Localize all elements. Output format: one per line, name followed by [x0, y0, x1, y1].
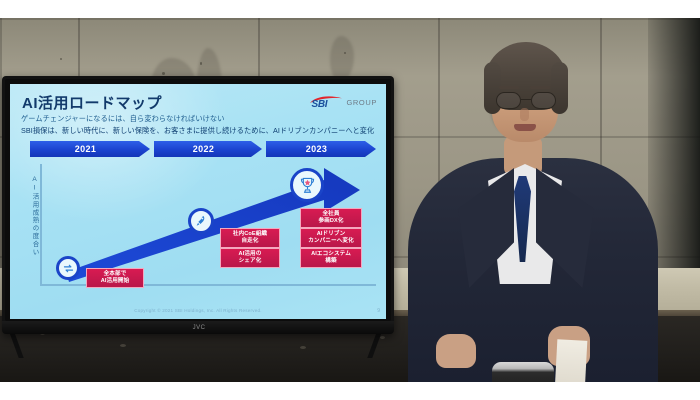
tag-line: 参画DX化	[304, 218, 358, 225]
eyeglasses	[496, 92, 556, 109]
slide-page-number: 9	[377, 308, 380, 314]
slide-title: AI活用ロードマップ	[22, 92, 162, 113]
television: JVC AI活用ロードマップ ゲームチェンジャーになるには、自ら変わらなければい…	[2, 76, 394, 334]
tag-line: AI活用の	[224, 251, 276, 258]
tag-line: AIエコシステム	[304, 251, 358, 258]
milestone-node-2022	[188, 208, 214, 234]
sbi-mark: SBI	[309, 95, 343, 110]
cycle-icon	[62, 262, 75, 275]
conference-speaker	[492, 362, 554, 382]
milestone-node-2021	[56, 256, 80, 280]
milestone-node-2023	[290, 168, 324, 202]
eyebrow-left	[499, 86, 519, 89]
sbi-wordmark: SBI	[311, 99, 327, 110]
presenter	[400, 18, 700, 382]
trophy-icon	[298, 176, 317, 195]
tv-chin: JVC	[2, 321, 394, 334]
sbi-group-suffix: GROUP	[346, 98, 377, 107]
mouth	[514, 124, 536, 131]
tag-line: AI活用開始	[90, 278, 140, 285]
timeline-chevrons: 2021 2022 2023	[30, 141, 376, 157]
tag-line: AIドリブン	[304, 231, 358, 238]
sbi-group-logo: SBI GROUP	[309, 95, 377, 110]
milestone-tag: AI活用の シェア化	[220, 248, 280, 268]
tag-line: カンパニーへ変化	[304, 238, 358, 245]
milestone-tag: 全社員 参画DX化	[300, 208, 362, 228]
paper-stack	[555, 339, 588, 382]
video-frame: JVC AI活用ロードマップ ゲームチェンジャーになるには、自ら変わらなければい…	[0, 18, 700, 382]
slide-footer: Copyright © 2021 SBI Holdings, Inc. All …	[10, 308, 386, 313]
tag-line: 自走化	[224, 238, 276, 245]
presentation-slide: AI活用ロードマップ ゲームチェンジャーになるには、自ら変わらなければいけない …	[10, 84, 386, 319]
screenshot-stage: JVC AI活用ロードマップ ゲームチェンジャーになるには、自ら変わらなければい…	[0, 0, 700, 400]
eyebrow-right	[530, 86, 550, 89]
tag-line: 全社員	[304, 211, 358, 218]
timeline-chevron-2022: 2022	[154, 141, 262, 157]
rocket-icon	[194, 214, 208, 228]
timeline-chevron-2023: 2023	[266, 141, 376, 157]
timeline-chevron-2021: 2021	[30, 141, 150, 157]
nose	[520, 108, 529, 121]
slide-subtitle-2: SBI損保は、新しい時代に、新しい保険を、お客さまに提供し続けるために、AIドリ…	[21, 126, 374, 136]
milestone-tag: AIドリブン カンパニーへ変化	[300, 228, 362, 248]
milestone-tag: 社内CoE組織 自走化	[220, 228, 280, 248]
tv-brand-logo: JVC	[178, 324, 220, 332]
tag-line: 社内CoE組織	[224, 231, 276, 238]
tag-line: 構築	[304, 258, 358, 265]
tag-line: シェア化	[224, 258, 276, 265]
slide-subtitle-1: ゲームチェンジャーになるには、自ら変わらなければいけない	[21, 114, 224, 124]
tag-line: 全本部で	[90, 271, 140, 278]
milestone-tag: 全本部で AI活用開始	[86, 268, 144, 288]
milestone-tag: AIエコシステム 構築	[300, 248, 362, 268]
hand-left	[436, 334, 476, 368]
